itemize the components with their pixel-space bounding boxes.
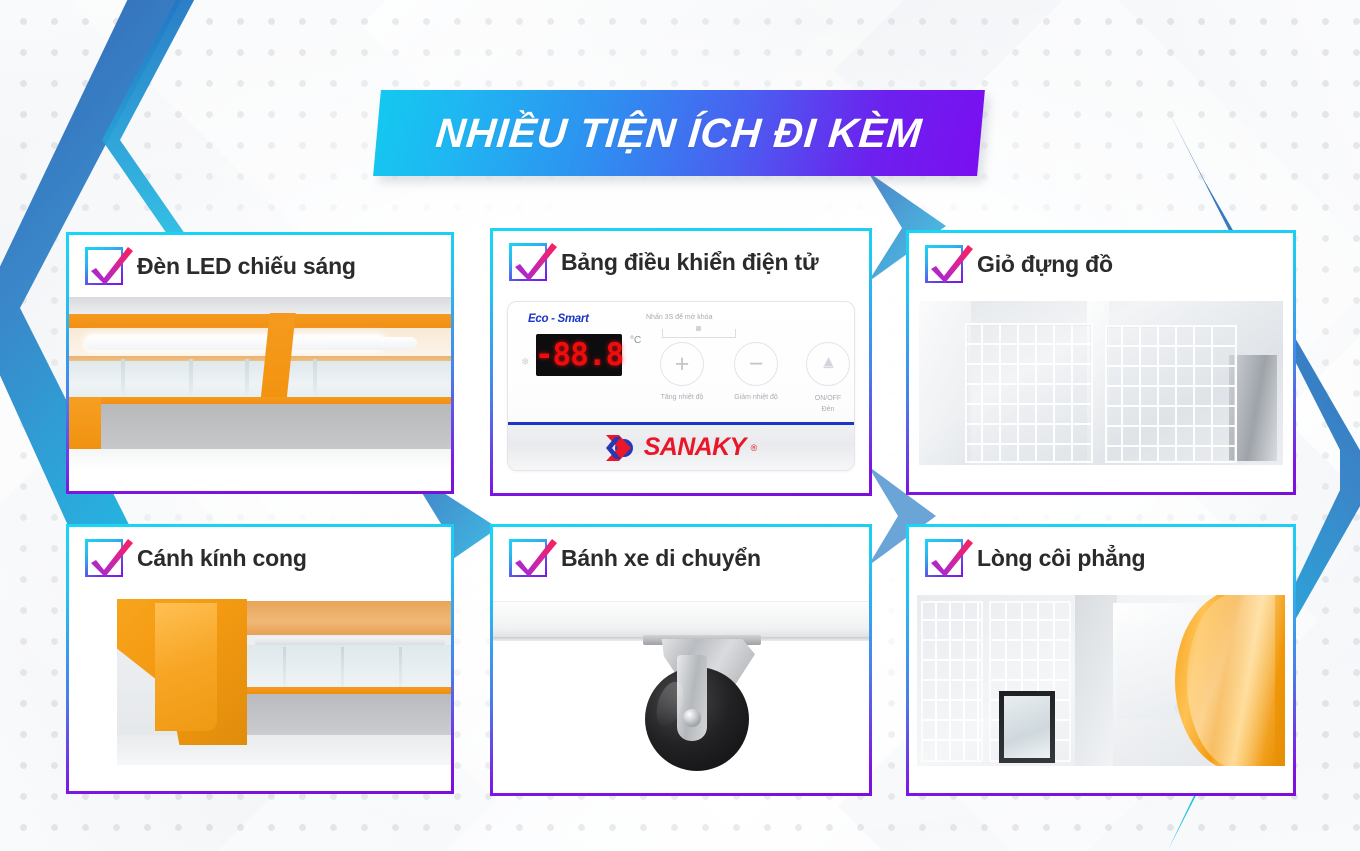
light-label-line1: ON/OFF [815,395,841,402]
lamp-icon [820,352,837,377]
light-label-line2: Đèn [822,406,835,413]
check-icon [925,245,963,283]
feature-card-curved-glass[interactable]: Cánh kính cong [66,524,454,794]
brand-logo: SANAKY ® [508,425,854,470]
card-header: Đèn LED chiếu sáng [69,235,451,297]
card-header: Bánh xe di chuyển [493,527,869,589]
photo-caster-wheel [493,589,869,779]
card-title: Bảng điều khiển điện tử [561,249,818,276]
photo-control-panel: Eco - Smart Nhấn 3S để mở khóa -88.8 °C … [493,293,869,477]
decrease-temp-button[interactable]: − [734,342,778,386]
unlock-hint: Nhấn 3S để mở khóa [646,314,712,321]
feature-card-led[interactable]: Đèn LED chiếu sáng [66,232,454,494]
card-title: Đèn LED chiếu sáng [137,253,356,280]
page-title-banner: NHIỀU TIỆN ÍCH ĐI KÈM [377,90,981,176]
lock-icon [696,326,701,331]
temperature-value: -88.8 [535,340,623,371]
plus-icon: + [675,352,690,377]
photo-storage-baskets [909,295,1293,473]
check-icon [509,243,547,281]
feature-card-caster-wheel[interactable]: Bánh xe di chuyển [490,524,872,796]
card-header: Bảng điều khiển điện tử [493,231,869,293]
sanaky-mark-icon [605,433,639,463]
basket-right [1105,325,1237,463]
light-onoff-button[interactable] [806,342,850,386]
photo-curved-glass-door [69,589,451,773]
check-icon [85,539,123,577]
card-header: Cánh kính cong [69,527,451,589]
feature-card-basket[interactable]: Giỏ đựng đồ [906,230,1296,495]
card-title: Lòng côi phẳng [977,545,1145,572]
eco-smart-label: Eco - Smart [528,313,589,325]
increase-temp-button[interactable]: + [660,342,704,386]
temperature-display: -88.8 [536,334,622,376]
basket-left [921,601,983,762]
basket-left [965,323,1093,463]
increase-temp-label: Tăng nhiệt độ [647,394,717,401]
photo-flat-interior [909,589,1293,774]
card-header: Lòng côi phẳng [909,527,1293,589]
check-icon [509,539,547,577]
registered-mark: ® [751,443,758,453]
light-onoff-label: ON/OFF Đèn [793,394,855,415]
page-title: NHIỀU TIỆN ÍCH ĐI KÈM [373,90,985,176]
minus-icon: − [749,352,764,377]
orange-rim [1175,595,1285,766]
snowflake-icon: ❄ [521,357,529,368]
card-title: Cánh kính cong [137,545,307,572]
card-title: Bánh xe di chuyển [561,545,761,572]
decrease-temp-label: Giảm nhiệt độ [721,394,791,401]
feature-card-control-panel[interactable]: Bảng điều khiển điện tử Eco - Smart Nhấn… [490,228,872,496]
card-title: Giỏ đựng đồ [977,251,1113,278]
ice-pack [999,691,1055,763]
feature-card-flat-interior[interactable]: Lòng côi phẳng [906,524,1296,796]
check-icon [85,247,123,285]
check-icon [925,539,963,577]
chevron-accent-icon [92,0,212,270]
photo-led-lighting [69,297,451,471]
sanaky-wordmark: SANAKY [644,433,746,462]
card-header: Giỏ đựng đồ [909,233,1293,295]
celsius-unit: °C [630,335,641,346]
